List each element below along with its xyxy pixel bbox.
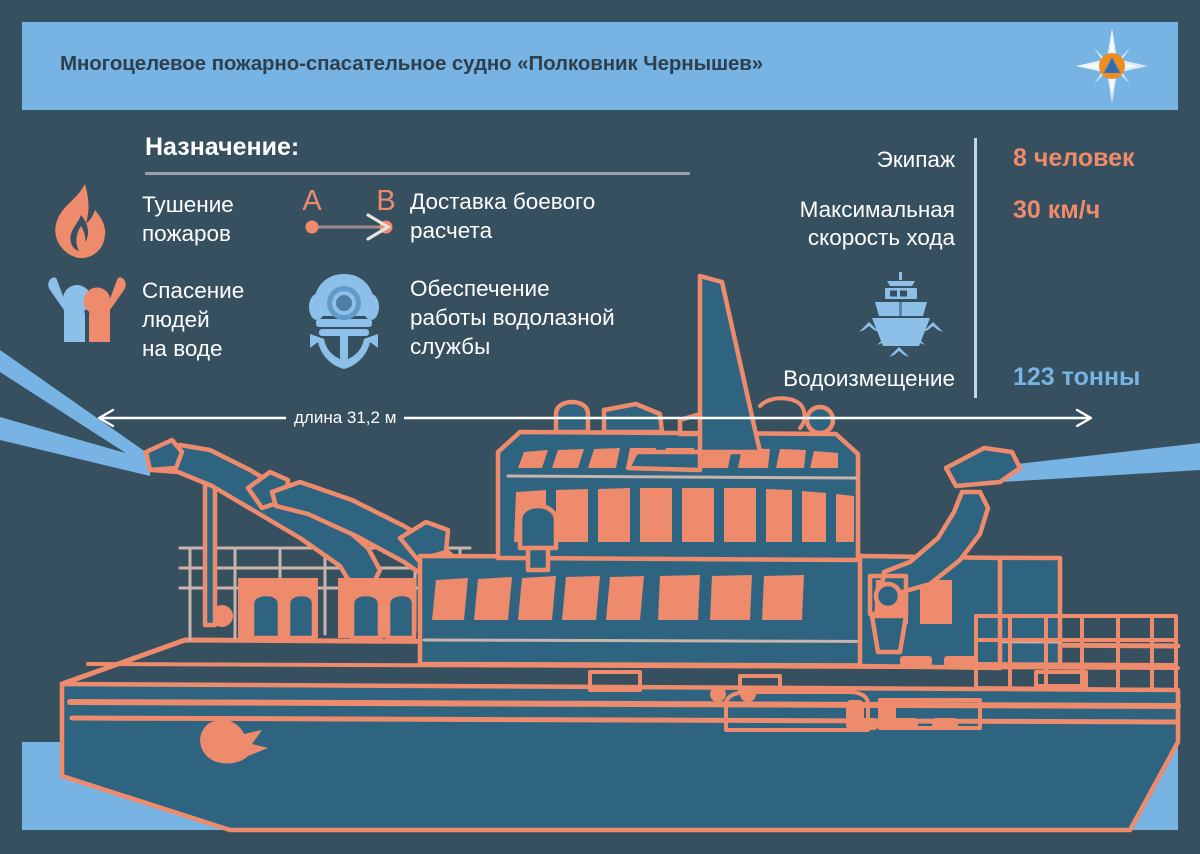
length-dimension-label: длина 31,2 м [286, 408, 404, 428]
infographic-poster: Многоцелевое пожарно-спасательное судно … [0, 0, 1200, 854]
length-dimension-arrow [0, 0, 1200, 854]
